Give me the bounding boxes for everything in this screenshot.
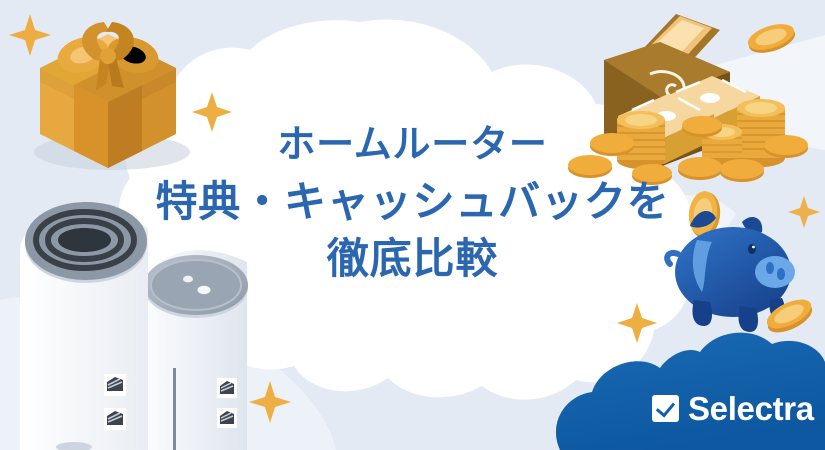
promo-banner: ホームルーター 特典・キャッシュバックを 徹底比較 Selectra — [0, 0, 825, 450]
selectra-logo[interactable]: Selectra — [652, 392, 814, 425]
checkbox-check-icon — [652, 395, 679, 422]
ethernet-port-icon — [217, 408, 237, 428]
background-layer — [0, 0, 825, 450]
ethernet-port-icon — [217, 378, 237, 398]
home-router-cylinder — [144, 250, 248, 450]
brand-name: Selectra — [688, 392, 814, 425]
home-router-rounded — [20, 202, 148, 450]
ethernet-port-icon — [104, 374, 126, 396]
ethernet-port-icon — [104, 408, 126, 430]
